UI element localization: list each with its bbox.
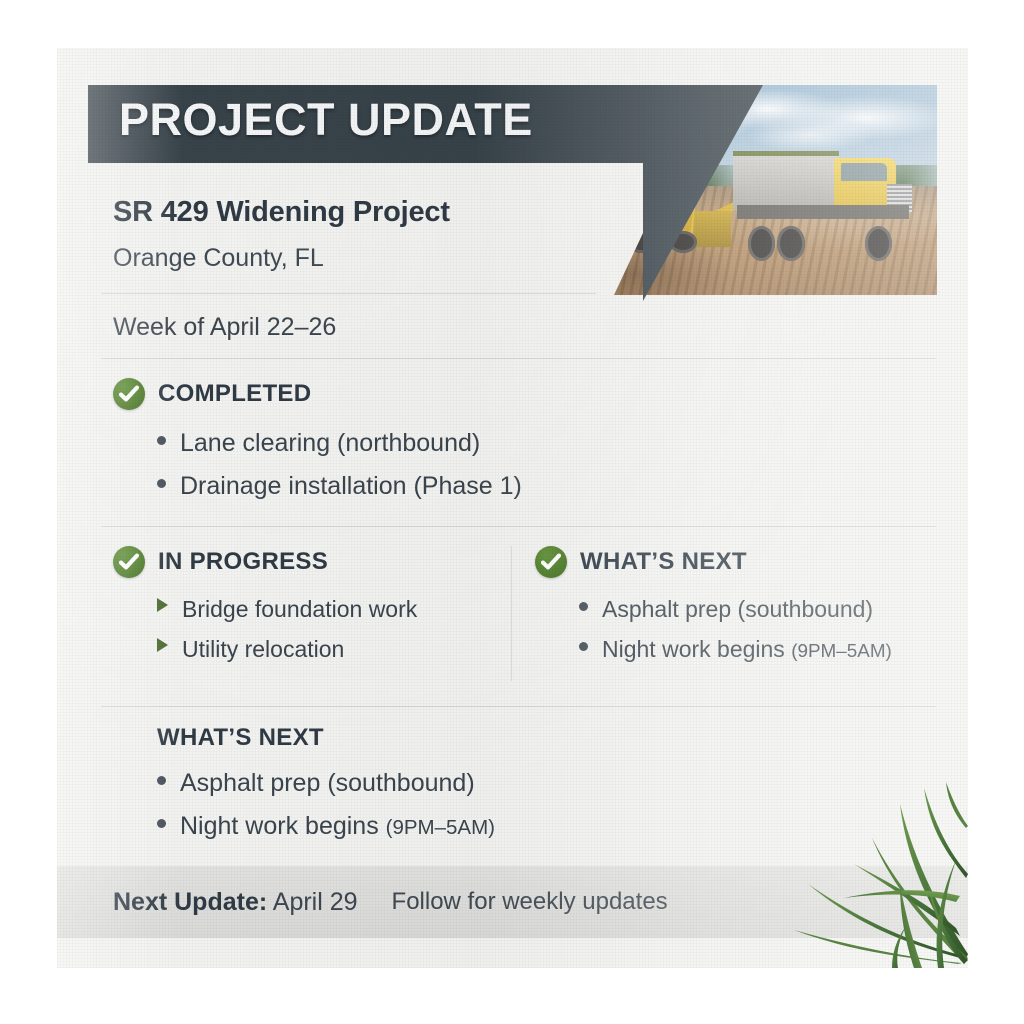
section-completed: COMPLETED Lane clearing (northbound) Dra… [113, 378, 913, 508]
bullet-dot-icon [579, 642, 588, 651]
project-location: Orange County, FL [113, 244, 324, 273]
section-in-progress: IN PROGRESS Bridge foundation work Utili… [113, 546, 493, 669]
section-whats-next-full-title: WHAT’S NEXT [157, 726, 324, 750]
section-in-progress-header: IN PROGRESS [113, 546, 493, 578]
section-completed-title: COMPLETED [158, 382, 311, 406]
project-update-card: PROJECT UPDATE SR 429 Widening Project O… [57, 48, 968, 968]
section-whats-next-column-title: WHAT’S NEXT [580, 550, 747, 574]
section-whats-next-full-header: WHAT’S NEXT [157, 726, 937, 750]
divider-title [101, 293, 596, 294]
banner-title: PROJECT UPDATE [119, 94, 533, 146]
check-circle-icon [113, 546, 145, 578]
poster-canvas: PROJECT UPDATE SR 429 Widening Project O… [0, 0, 1024, 1024]
list-item: Bridge foundation work [157, 590, 493, 630]
bullet-dot-icon [157, 436, 166, 445]
in-progress-list: Bridge foundation work Utility relocatio… [113, 590, 493, 669]
next-update-label: Next Update: [113, 888, 267, 916]
list-item-text: Night work begins [602, 636, 791, 662]
footer-content: Next Update: April 29 Follow for weekly … [113, 866, 668, 938]
list-item-label: Asphalt prep (southbound) [180, 762, 475, 805]
bullet-dot-icon [157, 479, 166, 488]
bullet-dot-icon [157, 819, 166, 828]
list-item: Night work begins (9PM–5AM) [157, 805, 937, 848]
triangle-bullet-icon [157, 598, 168, 612]
footer-bar: Next Update: April 29 Follow for weekly … [57, 866, 968, 938]
list-item-label: Night work begins (9PM–5AM) [602, 630, 892, 670]
bullet-dot-icon [157, 776, 166, 785]
list-item: Asphalt prep (southbound) [579, 590, 935, 630]
divider-columns-bottom [101, 706, 936, 707]
list-item-label: Utility relocation [182, 630, 344, 670]
list-item-label: Asphalt prep (southbound) [602, 590, 873, 630]
list-item-label: Drainage installation (Phase 1) [180, 465, 522, 508]
section-in-progress-title: IN PROGRESS [158, 550, 328, 574]
list-item-text: Asphalt prep (southbound) [180, 769, 475, 797]
week-label: Week of April 22–26 [113, 313, 336, 342]
list-item-text: Asphalt prep (southbound) [602, 596, 873, 622]
list-item-text: Night work begins [180, 812, 386, 840]
project-title: SR 429 Widening Project [113, 196, 450, 229]
section-completed-header: COMPLETED [113, 378, 913, 410]
next-update: Next Update: April 29 [113, 888, 358, 917]
bullet-dot-icon [579, 602, 588, 611]
follow-text: Follow for weekly updates [392, 888, 668, 916]
list-item-time: (9PM–5AM) [791, 640, 892, 661]
list-item-label: Lane clearing (northbound) [180, 422, 480, 465]
triangle-bullet-icon [157, 638, 168, 652]
divider-week [101, 358, 936, 359]
divider-completed [101, 526, 936, 527]
list-item: Asphalt prep (southbound) [157, 762, 937, 805]
list-item: Utility relocation [157, 630, 493, 670]
divider-columns [511, 546, 512, 681]
check-circle-icon [535, 546, 567, 578]
list-item-label: Night work begins (9PM–5AM) [180, 805, 495, 848]
whats-next-column-list: Asphalt prep (southbound) Night work beg… [535, 590, 935, 669]
completed-list: Lane clearing (northbound) Drainage inst… [113, 422, 913, 508]
list-item: Lane clearing (northbound) [157, 422, 913, 465]
section-whats-next-column-header: WHAT’S NEXT [535, 546, 935, 578]
section-whats-next-full: WHAT’S NEXT Asphalt prep (southbound) Ni… [157, 726, 937, 848]
section-whats-next-column: WHAT’S NEXT Asphalt prep (southbound) Ni… [535, 546, 935, 669]
list-item-time: (9PM–5AM) [386, 816, 495, 839]
list-item: Night work begins (9PM–5AM) [579, 630, 935, 670]
check-circle-icon [113, 378, 145, 410]
next-update-value: April 29 [273, 888, 358, 916]
whats-next-full-list: Asphalt prep (southbound) Night work beg… [157, 762, 937, 848]
list-item: Drainage installation (Phase 1) [157, 465, 913, 508]
list-item-label: Bridge foundation work [182, 590, 417, 630]
